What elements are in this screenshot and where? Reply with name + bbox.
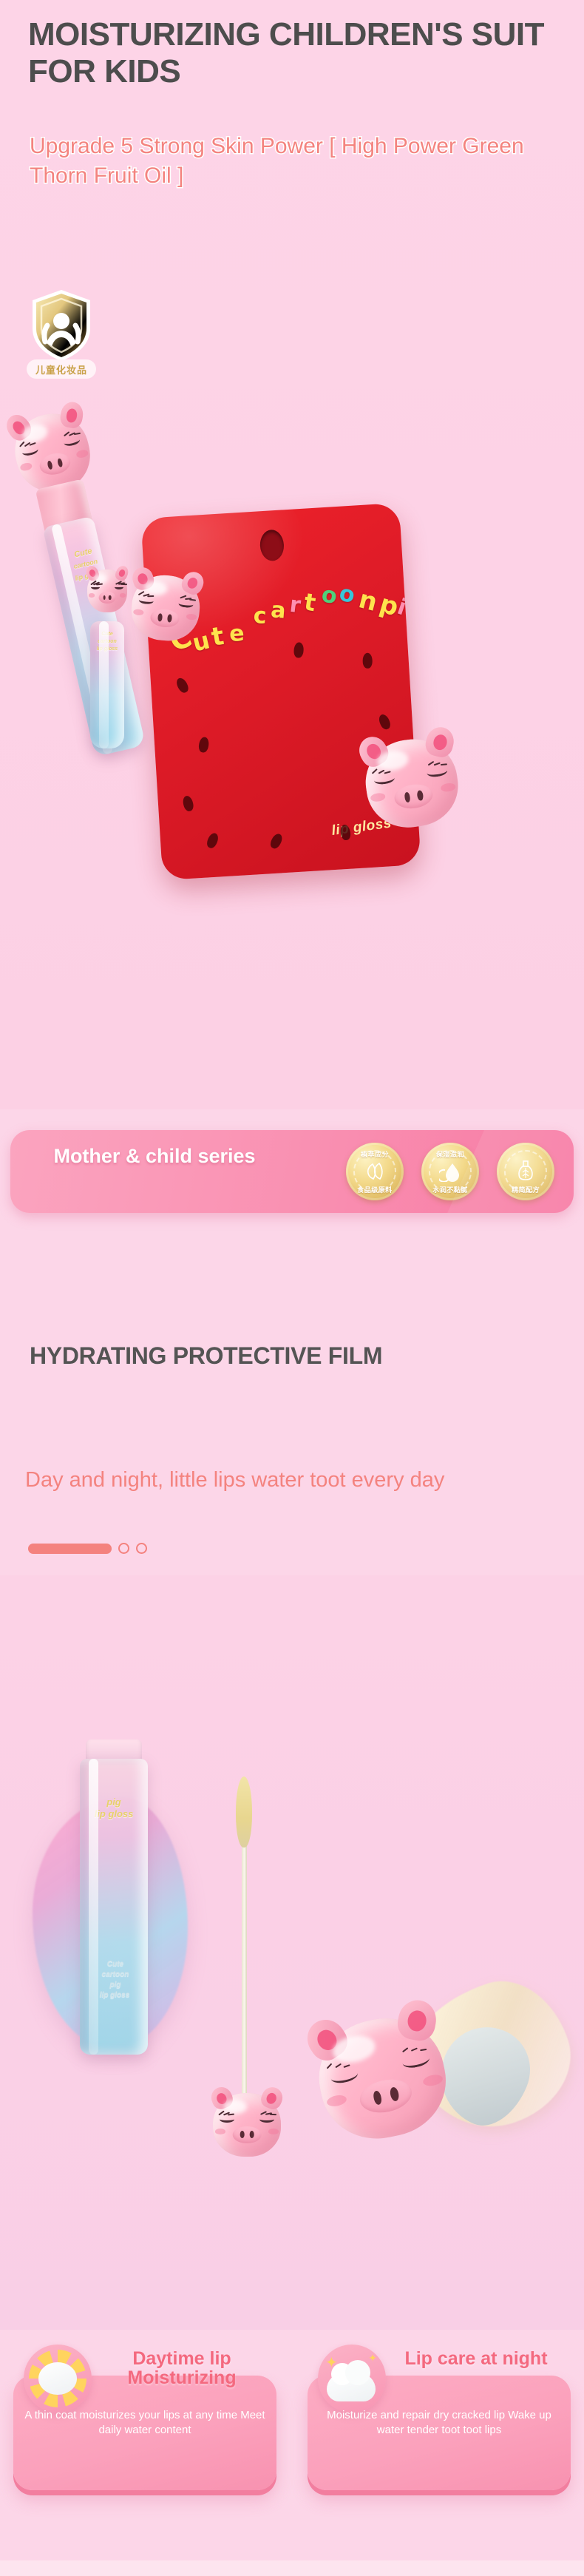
watermelon-seed bbox=[174, 676, 190, 694]
coin-bottom-text: 水润不黏腻 bbox=[421, 1185, 479, 1194]
wand-pig-cap bbox=[213, 2093, 281, 2157]
certification-label: 儿童化妆品 bbox=[27, 359, 96, 379]
watermelon-seed bbox=[377, 713, 392, 731]
inner-tube-print1: Cute bbox=[92, 632, 123, 638]
inner-tube-print4: lip gloss bbox=[92, 646, 123, 652]
wand-tip bbox=[236, 1777, 252, 1848]
sun-core bbox=[38, 2362, 77, 2395]
certification-badge: 儿童化妆品 bbox=[30, 288, 93, 399]
watermelon-seed bbox=[206, 831, 220, 849]
package-letter-10: n bbox=[356, 584, 380, 618]
banner-title: Mother & child series bbox=[33, 1145, 276, 1169]
section-title-hydrating: HYDRATING PROTECTIVE FILM bbox=[30, 1342, 562, 1370]
benefit-badges: 植萃成分食品级原料保湿滋润水润不黏腻精简配方 bbox=[346, 1143, 554, 1200]
inner-tube-print2: cartoon bbox=[92, 639, 123, 645]
pig-blush-right bbox=[441, 782, 456, 792]
coin-inner bbox=[504, 1150, 547, 1193]
pig-eye-right bbox=[115, 585, 123, 589]
pig-ear-right bbox=[58, 400, 84, 430]
hang-hole bbox=[259, 529, 285, 561]
pig-blush-left bbox=[326, 2093, 348, 2108]
package-letter-4: c bbox=[253, 603, 267, 629]
moon-cloud-shape: ✦ ✦ bbox=[322, 2353, 381, 2404]
package-letter-9: o bbox=[337, 580, 358, 609]
pig-snout bbox=[150, 608, 180, 628]
tube-print-pig: pig bbox=[87, 1797, 140, 1808]
watermelon-seed bbox=[293, 642, 305, 658]
star-icon-2: ✦ bbox=[368, 2353, 377, 2363]
pig-case-open bbox=[308, 2007, 456, 2149]
pig-snout bbox=[393, 782, 435, 811]
sun-icon bbox=[24, 2345, 92, 2413]
section-subtitle-hydrating: Day and night, little lips water toot ev… bbox=[25, 1466, 528, 1495]
pig-eye-left bbox=[139, 597, 155, 605]
pig-eyelash bbox=[326, 2063, 332, 2069]
pig-blush-left bbox=[370, 792, 385, 802]
watermelon-seed bbox=[182, 795, 195, 813]
product-blister-card: Cutecartoonpig lip gloss bbox=[140, 503, 421, 880]
pig-ear-right bbox=[424, 725, 458, 760]
coin-bottom-text: 食品级原料 bbox=[346, 1185, 404, 1194]
pig-eye-left bbox=[220, 2116, 234, 2123]
package-letter-5: a bbox=[270, 597, 287, 623]
pig-eye-left bbox=[374, 774, 395, 786]
pagination-active-bar[interactable] bbox=[28, 1544, 112, 1554]
moisturizing-coin: 保湿滋润水润不黏腻 bbox=[421, 1143, 479, 1200]
package-letter-6: r bbox=[288, 592, 302, 618]
pig-ear-right bbox=[259, 2084, 286, 2112]
tube-print-cute: Cute bbox=[93, 1960, 137, 1969]
pig-blush-right bbox=[422, 2073, 444, 2088]
moon-cloud-icon: ✦ ✦ bbox=[318, 2345, 386, 2413]
coin-bottom-text: 精简配方 bbox=[497, 1185, 554, 1194]
page-title: MOISTURIZING CHILDREN'S SUIT FOR KIDS bbox=[28, 16, 546, 90]
tube-print-lipgloss: lip gloss bbox=[84, 1809, 143, 1820]
tube-print-lipgloss2: lip gloss bbox=[90, 1991, 139, 2000]
pig-blush-left bbox=[89, 593, 95, 597]
tube-print-pig2: pig bbox=[93, 1981, 137, 1990]
plant-extract-coin: 植萃成分食品级原料 bbox=[346, 1143, 404, 1200]
package-letter-7: t bbox=[302, 587, 318, 617]
wand-stick bbox=[242, 1828, 247, 2109]
feature-card-description: Moisturize and repair dry cracked lip Wa… bbox=[315, 2408, 563, 2438]
pig-eye-left bbox=[91, 585, 100, 589]
simple-formula-coin: 精简配方 bbox=[497, 1143, 554, 1200]
pig-blush-left bbox=[215, 2129, 226, 2134]
feature-card-daytime: Daytime lip Moisturizing A thin coat moi… bbox=[13, 2376, 276, 2490]
pig-eyelash bbox=[335, 2063, 342, 2069]
lifestyle-product-photo: pig lip gloss Cute cartoon pig lip gloss bbox=[0, 1575, 584, 2330]
pig-eyelash bbox=[378, 770, 384, 774]
pig-highlight bbox=[224, 2100, 247, 2114]
feature-card-night: ✦ ✦ Lip care at night Moisturize and rep… bbox=[308, 2376, 571, 2490]
pig-eye-right bbox=[178, 600, 194, 608]
pig-eye-right bbox=[401, 2052, 430, 2070]
pig-snout bbox=[99, 592, 116, 604]
feature-card-description: A thin coat moisturizes your lips at any… bbox=[21, 2408, 269, 2438]
pagination-dot-2[interactable] bbox=[118, 1543, 129, 1554]
watermelon-seed bbox=[198, 737, 210, 754]
feature-card-title: Lip care at night bbox=[387, 2349, 565, 2368]
inner-lip-gloss-tube: Cute cartoon lip gloss bbox=[86, 569, 129, 747]
package-letter-2: t bbox=[209, 621, 226, 652]
watermelon-seed bbox=[363, 653, 373, 669]
open-lip-gloss-tube: pig lip gloss Cute cartoon pig lip gloss bbox=[80, 1759, 148, 2077]
hero-subtitle: Upgrade 5 Strong Skin Power [ High Power… bbox=[30, 132, 547, 190]
pig-eye-right bbox=[259, 2116, 274, 2123]
pig-eyelash bbox=[420, 2049, 427, 2051]
pig-blush-right bbox=[186, 614, 197, 621]
tube-print-cartoon: cartoon bbox=[93, 1970, 137, 1979]
pig-eyelash bbox=[402, 2047, 408, 2052]
pig-blush-right bbox=[268, 2129, 279, 2134]
inner-pig-cap-icon bbox=[87, 569, 127, 612]
pig-eyelash bbox=[411, 2048, 418, 2052]
cloud-shape bbox=[327, 2373, 376, 2401]
pig-eye-left bbox=[21, 445, 39, 457]
lip-gloss-applicator-wand bbox=[235, 1777, 253, 2109]
carousel-pagination[interactable] bbox=[28, 1543, 147, 1554]
pig-snout bbox=[233, 2126, 262, 2143]
pig-blush-left bbox=[133, 609, 144, 615]
pagination-dot-3[interactable] bbox=[136, 1543, 147, 1554]
gold-shield-icon bbox=[30, 288, 93, 362]
pig-eyelash bbox=[148, 595, 155, 597]
pig-blush-left bbox=[19, 462, 33, 472]
pig-eye-left bbox=[330, 2066, 359, 2085]
pig-blush-right bbox=[120, 593, 126, 597]
package-letter-13: g bbox=[404, 595, 421, 627]
pig-snout bbox=[357, 2075, 415, 2117]
pig-eyelash bbox=[372, 768, 378, 774]
pig-eyelash bbox=[441, 763, 447, 765]
main-product-photo: Cutecartoonpig lip gloss Cute cartoon li… bbox=[0, 385, 584, 1124]
bottom-strip bbox=[0, 2560, 584, 2576]
package-letter-1: u bbox=[190, 626, 213, 657]
pig-eyelash bbox=[344, 2064, 350, 2068]
tube-body: pig lip gloss Cute cartoon pig lip gloss bbox=[80, 1759, 148, 2055]
pig-eye-right bbox=[427, 766, 448, 779]
pig-eye-right bbox=[63, 436, 81, 447]
feature-card-title: Daytime lip Moisturizing bbox=[93, 2349, 271, 2388]
pig-blush-right bbox=[75, 449, 89, 459]
package-letter-3: e bbox=[228, 621, 245, 647]
inner-tube-body: Cute cartoon lip gloss bbox=[90, 621, 124, 748]
shield-svg bbox=[30, 288, 93, 362]
pig-snout bbox=[38, 450, 72, 478]
watermelon-seed bbox=[268, 832, 284, 851]
mother-child-series-banner: Mother & child series 植萃成分食品级原料保湿滋润水润不黏腻… bbox=[10, 1130, 574, 1213]
